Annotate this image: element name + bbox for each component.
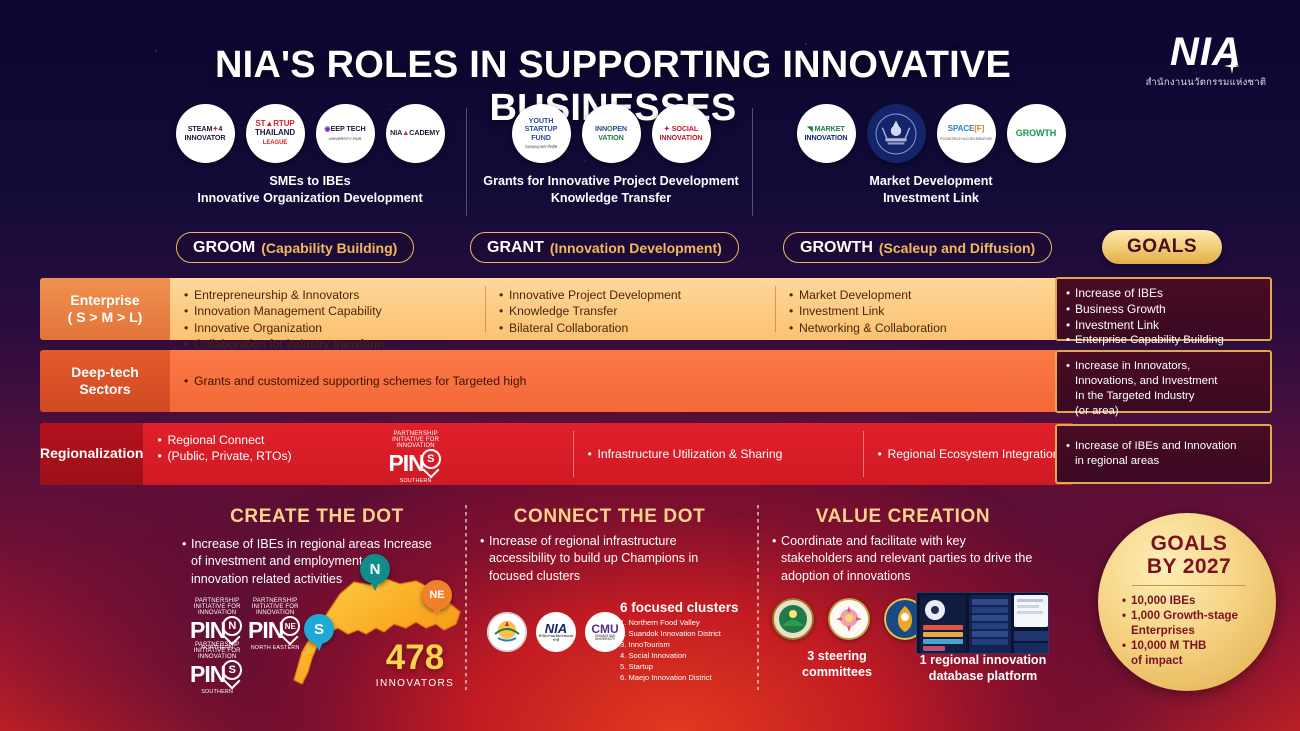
row-label-enterprise: Enterprise ( S > M > L) bbox=[40, 278, 170, 340]
logo-group-smes-to-ibes: STEAM✦4INNOVATOR ST▲RTUPTHAILANDLEAGUE ◉… bbox=[155, 104, 465, 207]
logo-group-caption: Grants for Innovative Project Developmen… bbox=[482, 173, 740, 207]
cluster-partner-logos: NIA สำนักงานนวัตกรรมแห่งชาติ CMU CHIANG … bbox=[487, 612, 625, 652]
list-item: Social Innovation bbox=[620, 650, 780, 661]
logo-group-grants: YOUTHSTARTUPFUNDกองทุนยุวสตาร์ทอัพ INNOP… bbox=[482, 104, 740, 207]
open-innovation-logo[interactable]: INNOPENVATION bbox=[582, 104, 641, 163]
map-marker-south[interactable]: S bbox=[304, 614, 334, 654]
goals-by-2027-circle: GOALS BY 2027 10,000 IBEs 1,000 Growth-s… bbox=[1098, 513, 1276, 691]
startup-thailand-logo[interactable]: ST▲RTUPTHAILANDLEAGUE bbox=[246, 104, 305, 163]
deep-tech-logo[interactable]: ◉EEP TECHUNIVERSITY FAIR bbox=[316, 104, 375, 163]
phase-name: GRANT bbox=[487, 239, 544, 257]
list-item: 1,000 Growth-stage bbox=[1122, 609, 1260, 624]
phase-desc: (Scaleup and Diffusion) bbox=[879, 240, 1035, 256]
committee-seal-2[interactable] bbox=[828, 598, 870, 640]
database-platform-caption: 1 regional innovation database platform bbox=[908, 652, 1058, 685]
logo-group-caption: SMEs to IBEs Innovative Organization Dev… bbox=[155, 173, 465, 207]
logo-group-market-development: ◥ MARKETINNOVATION SPACE[F]FOODTECH ACCE… bbox=[776, 104, 1086, 207]
map-marker-north[interactable]: N bbox=[360, 554, 390, 594]
market-innovation-logo[interactable]: ◥ MARKETINNOVATION bbox=[797, 104, 856, 163]
goals-divider bbox=[1132, 585, 1246, 586]
nia-academy-logo[interactable]: NIA▲CADEMY bbox=[386, 104, 445, 163]
pin-southern-logo: PARTNERSHIPINITIATIVE FORINNOVATION PIN … bbox=[388, 431, 442, 484]
cell-regional-grant: Infrastructure Utilization & Sharing bbox=[573, 423, 863, 485]
program-logo-groups: STEAM✦4INNOVATOR ST▲RTUPTHAILANDLEAGUE ◉… bbox=[0, 104, 1300, 222]
steering-committee-seals bbox=[772, 598, 926, 640]
section-title-connect-the-dot: CONNECT THE DOT bbox=[487, 506, 732, 528]
cell-enterprise-grant: Innovative Project Development Knowledge… bbox=[485, 278, 775, 340]
matrix-row-regionalization: Regionalization Regional Connect (Public… bbox=[40, 423, 1058, 485]
cluster-seal-logo[interactable] bbox=[487, 612, 527, 652]
focused-clusters-list: 6 focused clusters Northern Food Valley … bbox=[620, 600, 780, 683]
cell-enterprise-growth: Market Development Investment Link Netwo… bbox=[775, 278, 1058, 340]
list-item: 10,000 M THB bbox=[1122, 639, 1260, 654]
dashboard-preview-icon bbox=[917, 593, 1049, 654]
section-divider-2 bbox=[757, 505, 759, 690]
space-f-logo[interactable]: SPACE[F]FOODTECH ACCELERATOR bbox=[937, 104, 996, 163]
map-marker-northeast[interactable]: NE bbox=[422, 580, 452, 620]
matrix-row-enterprise: Enterprise ( S > M > L) Entrepreneurship… bbox=[40, 278, 1058, 340]
goal-box-regionalization: Increase of IBEs and Innovation in regio… bbox=[1055, 424, 1272, 484]
cell-enterprise-groom: Entrepreneurship & Innovators Innovation… bbox=[170, 278, 485, 340]
innovators-stat: 478 INNOVATORS bbox=[360, 640, 470, 689]
committee-seal-2-icon bbox=[828, 598, 870, 640]
row-label-regionalization: Regionalization bbox=[40, 423, 143, 485]
steering-committees-caption: 3 steering committees bbox=[772, 648, 902, 681]
growth-logo[interactable]: GROWTH bbox=[1007, 104, 1066, 163]
phase-desc: (Innovation Development) bbox=[550, 240, 722, 256]
cmu-logo[interactable]: CMU CHIANG MAI UNIVERSITY bbox=[585, 612, 625, 652]
nia-logo: NIA สำนักงานนวัตกรรมแห่งชาติ bbox=[1136, 32, 1276, 90]
section-body-connect-the-dot: Increase of regional infrastructure acce… bbox=[480, 533, 735, 585]
nia-cluster-logo[interactable]: NIA สำนักงานนวัตกรรมแห่งชาติ bbox=[536, 612, 576, 652]
row-label-deeptech: Deep-tech Sectors bbox=[40, 350, 170, 412]
list-item: InnoTourism bbox=[620, 639, 780, 650]
steam4innovator-logo[interactable]: STEAM✦4INNOVATOR bbox=[176, 104, 235, 163]
royal-emblem-icon bbox=[875, 113, 917, 155]
matrix-row-deeptech: Deep-tech Sectors Grants and customized … bbox=[40, 350, 1058, 412]
committee-seal-1[interactable] bbox=[772, 598, 814, 640]
infographic-page: NIA'S ROLES IN SUPPORTING INNOVATIVE BUS… bbox=[0, 0, 1300, 731]
list-item: Maejo Innovation District bbox=[620, 672, 780, 683]
social-innovation-logo[interactable]: ✦ SOCIALINNOVATION bbox=[652, 104, 711, 163]
list-item: Startup bbox=[620, 661, 780, 672]
database-platform-screenshot[interactable] bbox=[916, 592, 1049, 654]
goals-pill: GOALS bbox=[1102, 230, 1222, 264]
list-item: Enterprises bbox=[1122, 624, 1260, 639]
cell-regional-groom: Regional Connect (Public, Private, RTOs)… bbox=[143, 423, 573, 485]
list-item: 10,000 IBEs bbox=[1122, 594, 1260, 609]
list-item: Northern Food Valley bbox=[620, 617, 780, 628]
goal-box-enterprise: Increase of IBEs Business Growth Investm… bbox=[1055, 277, 1272, 341]
section-divider-1 bbox=[465, 505, 467, 690]
section-title-create-the-dot: CREATE THE DOT bbox=[182, 506, 452, 528]
section-title-value-creation: VALUE CREATION bbox=[778, 506, 1028, 528]
phase-pill-groom[interactable]: GROOM (Capability Building) bbox=[176, 232, 414, 263]
phase-desc: (Capability Building) bbox=[261, 240, 397, 256]
cluster-seal-icon bbox=[487, 612, 527, 652]
goal-box-deeptech: Increase in Innovators, Innovations, and… bbox=[1055, 350, 1272, 413]
phase-pill-grant[interactable]: GRANT (Innovation Development) bbox=[470, 232, 739, 263]
pin-southern-logo-2: PARTNERSHIPINITIATIVE FORINNOVATION PIN … bbox=[190, 642, 244, 695]
group-divider bbox=[466, 108, 467, 216]
goals-circle-title: GOALS BY 2027 bbox=[1118, 533, 1260, 578]
cell-deeptech-all: Grants and customized supporting schemes… bbox=[170, 350, 1058, 412]
phase-name: GROWTH bbox=[800, 239, 873, 257]
royal-emblem-logo[interactable] bbox=[867, 104, 926, 163]
cell-regional-growth: Regional Ecosystem Integration bbox=[863, 423, 1073, 485]
nia-thai-subtitle: สำนักงานนวัตกรรมแห่งชาติ bbox=[1136, 75, 1276, 90]
group-divider bbox=[752, 108, 753, 216]
section-body-value-creation: Coordinate and facilitate with key stake… bbox=[772, 533, 1034, 585]
committee-seal-1-icon bbox=[772, 598, 814, 640]
list-item: Suandok Innovation District bbox=[620, 628, 780, 639]
phase-name: GROOM bbox=[193, 239, 255, 257]
sparkle-icon bbox=[1224, 58, 1240, 74]
youth-startup-fund-logo[interactable]: YOUTHSTARTUPFUNDกองทุนยุวสตาร์ทอัพ bbox=[512, 104, 571, 163]
clusters-heading: 6 focused clusters bbox=[620, 600, 780, 615]
list-item: of impact bbox=[1122, 654, 1260, 669]
phase-pill-growth[interactable]: GROWTH (Scaleup and Diffusion) bbox=[783, 232, 1052, 263]
logo-group-caption: Market Development Investment Link bbox=[776, 173, 1086, 207]
nia-wordmark: NIA bbox=[1136, 32, 1276, 72]
